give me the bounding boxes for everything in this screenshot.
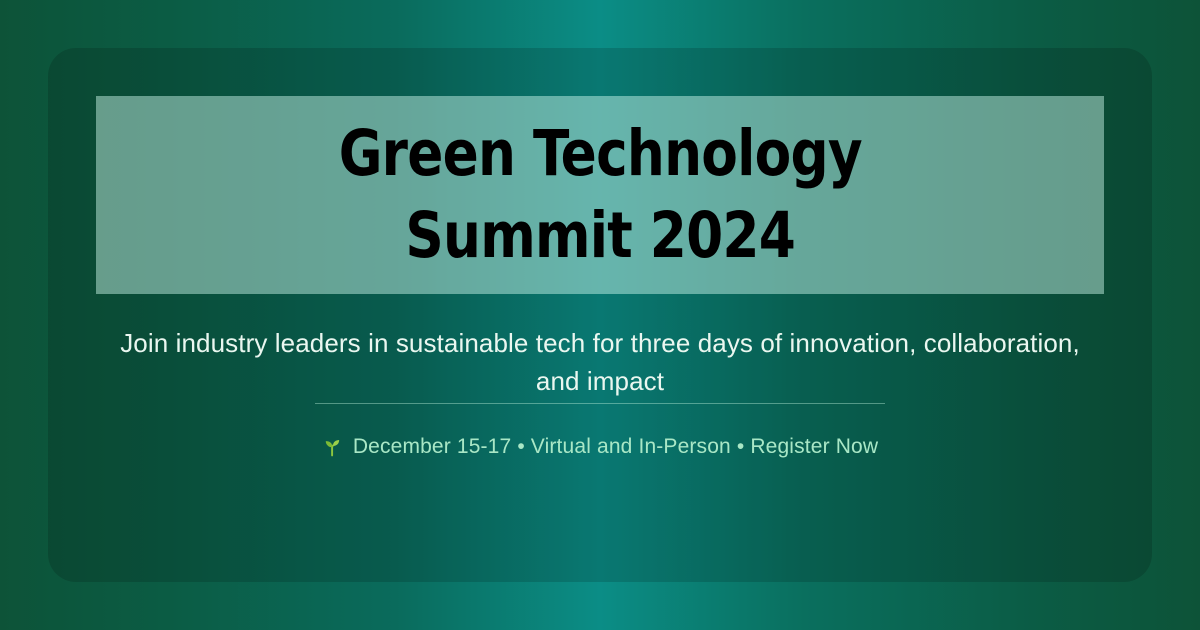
event-meta-text: December 15-17 • Virtual and In-Person •… <box>353 434 878 460</box>
event-meta-row: December 15-17 • Virtual and In-Person •… <box>322 434 878 460</box>
divider <box>315 403 885 404</box>
seedling-icon <box>322 436 344 458</box>
title-banner: Green Technology Summit 2024 <box>96 96 1104 294</box>
promo-card: Green Technology Summit 2024 Join indust… <box>48 48 1152 582</box>
page-title-line-2: Summit 2024 <box>405 195 795 277</box>
page-title-line-1: Green Technology <box>338 113 861 195</box>
subtitle-text: Join industry leaders in sustainable tec… <box>95 324 1105 400</box>
